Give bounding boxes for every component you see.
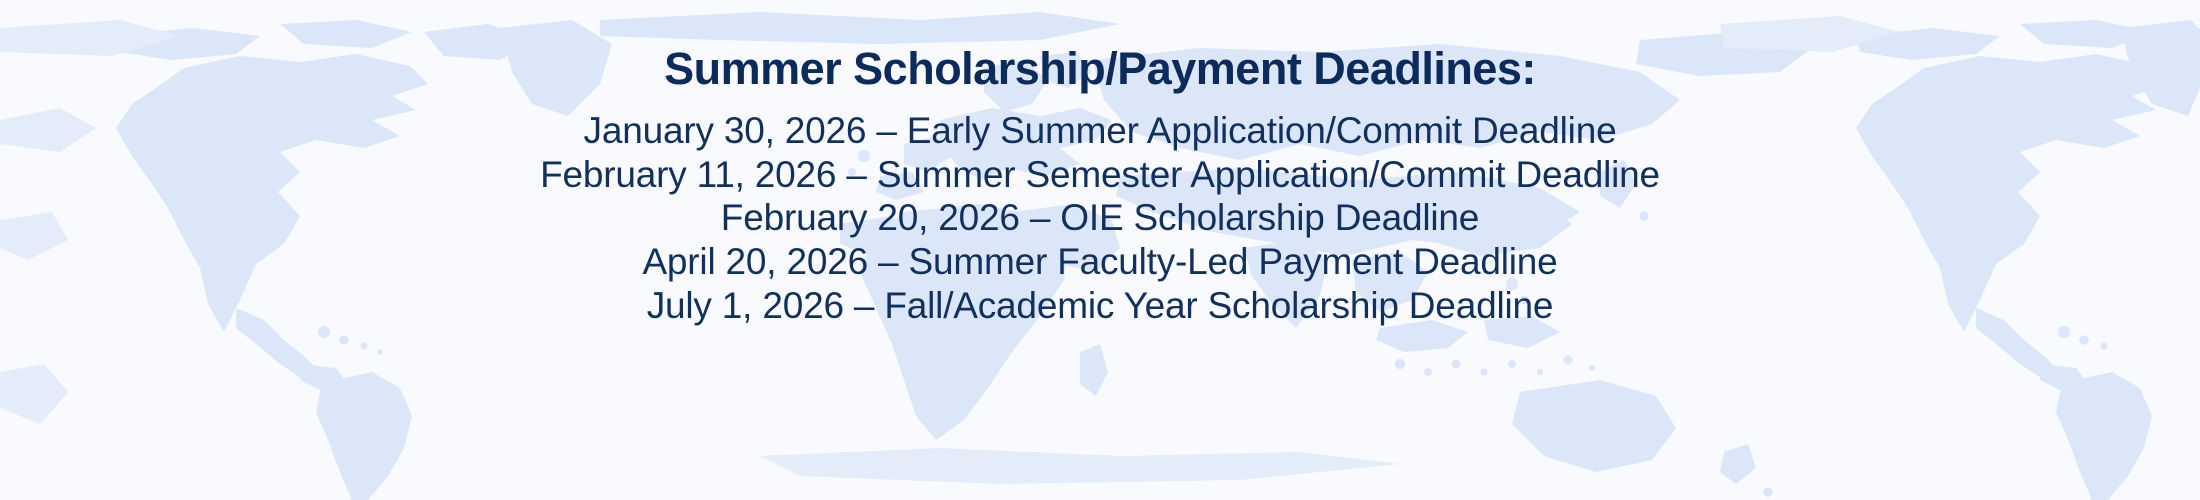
list-item: February 20, 2026 – OIE Scholarship Dead… — [540, 196, 1660, 240]
deadline-list: January 30, 2026 – Early Summer Applicat… — [540, 109, 1660, 327]
page-title: Summer Scholarship/Payment Deadlines: — [664, 46, 1536, 91]
list-item: January 30, 2026 – Early Summer Applicat… — [540, 109, 1660, 153]
list-item: April 20, 2026 – Summer Faculty-Led Paym… — [540, 240, 1660, 284]
deadlines-banner: Summer Scholarship/Payment Deadlines: Ja… — [0, 0, 2200, 500]
list-item: February 11, 2026 – Summer Semester Appl… — [540, 153, 1660, 197]
banner-content: Summer Scholarship/Payment Deadlines: Ja… — [0, 0, 2200, 500]
list-item: July 1, 2026 – Fall/Academic Year Schola… — [540, 284, 1660, 328]
